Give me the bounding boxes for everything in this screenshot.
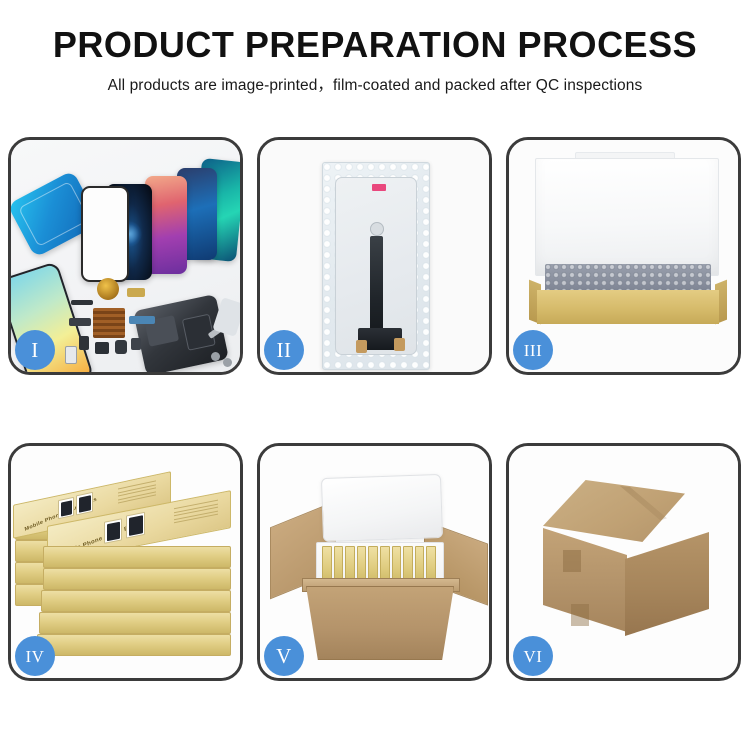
part-small-clip (79, 336, 89, 350)
box-lid (535, 158, 719, 276)
box-spec-lines-rear (118, 480, 156, 506)
step-2-panel: II (257, 137, 492, 375)
step-badge-6: VI (513, 636, 553, 676)
process-steps-grid: I II (8, 137, 742, 685)
part-gold-flex (127, 288, 145, 297)
step-badge-3: III (513, 330, 553, 370)
part-screw-tray (93, 308, 125, 338)
process-step-5: V (257, 443, 492, 681)
part-screw-b (223, 358, 232, 367)
part-camera-lens (97, 278, 119, 300)
part-sim-tray (65, 346, 77, 364)
box-front-panel (537, 290, 719, 324)
step-1-panel: I (8, 137, 243, 375)
page-title: PRODUCT PREPARATION PROCESS (0, 26, 750, 64)
part-shield (131, 338, 141, 350)
carton-body (306, 586, 454, 660)
box-spec-lines-front (174, 500, 218, 526)
process-step-1: I (8, 137, 243, 375)
step-badge-4: IV (15, 636, 55, 676)
part-speaker (71, 300, 93, 305)
process-step-2: II (257, 137, 492, 375)
process-step-3: III (506, 137, 741, 375)
part-bracket (69, 318, 91, 326)
stack-edge-5 (43, 546, 231, 568)
box-art-screen-b (76, 492, 93, 516)
foam-box-lid (321, 474, 443, 542)
page-subtitle: All products are image-printed，film-coat… (0, 73, 750, 95)
stack-edge-9 (37, 634, 231, 656)
process-step-6: VI (506, 443, 741, 681)
pink-label-tab (372, 184, 386, 191)
carton-right-face (625, 532, 709, 636)
step-3-panel: III (506, 137, 741, 375)
stack-edge-7 (41, 590, 231, 612)
product-preparation-infographic: PRODUCT PREPARATION PROCESS All products… (0, 0, 750, 750)
box-art-screen-a (58, 497, 74, 519)
part-button (115, 340, 127, 354)
carton-tape-lower (571, 604, 589, 626)
step-4-panel: Mobile Phone Spare Parts Mobile Phone Sp… (8, 443, 243, 681)
step-badge-2: II (264, 330, 304, 370)
lcd-screen-assembly (335, 177, 417, 355)
camera-hole (370, 222, 384, 236)
step-5-panel: V (257, 443, 492, 681)
carton-tape-upper (563, 550, 581, 572)
part-blue-flex (129, 316, 155, 324)
step-badge-5: V (264, 636, 304, 676)
connector-right (394, 338, 405, 351)
connector-left (356, 340, 367, 353)
header: PRODUCT PREPARATION PROCESS All products… (0, 0, 750, 95)
stack-edge-6 (43, 568, 231, 590)
step-badge-1: I (15, 330, 55, 370)
carton-top-face (543, 480, 685, 542)
bubble-wrap-bag (322, 162, 430, 370)
box-art-screen-c (104, 518, 122, 543)
box-art-screen-d (126, 512, 145, 539)
part-vibrator (95, 342, 109, 354)
process-step-4: Mobile Phone Spare Parts Mobile Phone Sp… (8, 443, 243, 681)
step-6-panel: VI (506, 443, 741, 681)
part-screw-a (211, 352, 220, 361)
stack-edge-8 (39, 612, 231, 634)
flex-cable (370, 236, 383, 340)
foam-padding (545, 264, 711, 292)
glass-screen-protector (81, 186, 129, 282)
